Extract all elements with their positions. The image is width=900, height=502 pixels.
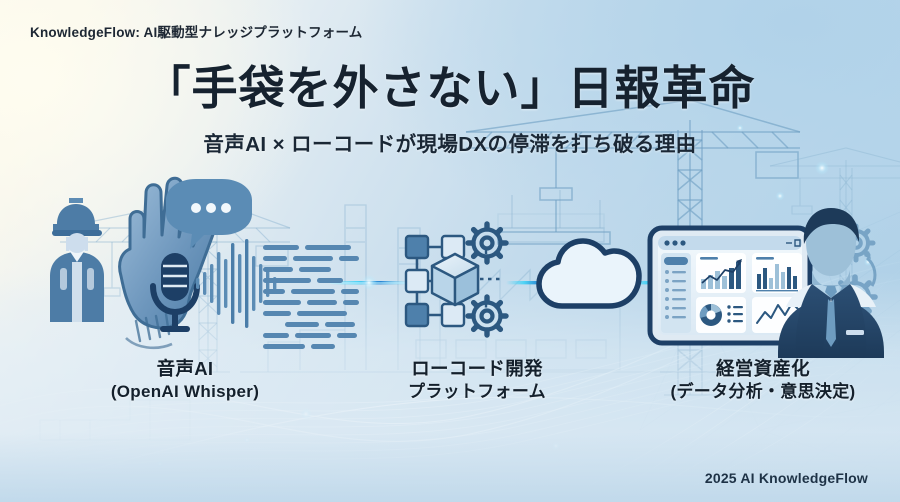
flow-step-label-line2: (OpenAI Whisper)	[50, 381, 320, 403]
flow-step-label-line1: ローコード開発	[411, 358, 543, 379]
brand-kicker: KnowledgeFlow: AI駆動型ナレッジプラットフォーム	[30, 21, 363, 41]
footer-credit: 2025 AI KnowledgeFlow	[705, 470, 868, 486]
background-vignette	[0, 432, 900, 502]
flow-step-label-line2: プラットフォーム	[352, 381, 602, 403]
flow-step-label-low-code: ローコード開発 プラットフォーム	[352, 357, 602, 404]
flow-step-label-line1: 経営資産化	[716, 358, 810, 379]
cube-icon	[432, 254, 478, 305]
transcript-lines-icon	[263, 245, 359, 349]
flow-step-label-voice-ai: 音声AI (OpenAI Whisper)	[50, 357, 320, 404]
page-title: 「手袋を外さない」日報革命	[0, 64, 900, 112]
cloud-icon	[539, 241, 639, 306]
construction-worker-icon	[50, 198, 104, 322]
page-subtitle: 音声AI × ローコードが現場DXの停滞を打ち破る理由	[0, 127, 900, 157]
slide-canvas: KnowledgeFlow: AI駆動型ナレッジプラットフォーム 「手袋を外さな…	[0, 0, 900, 502]
flow-step-label-line1: 音声AI	[157, 358, 214, 379]
flow-step-label-management-asset: 経営資産化 (データ分析・意思決定)	[628, 357, 898, 404]
flow-step-label-line2: (データ分析・意思決定)	[628, 381, 898, 403]
